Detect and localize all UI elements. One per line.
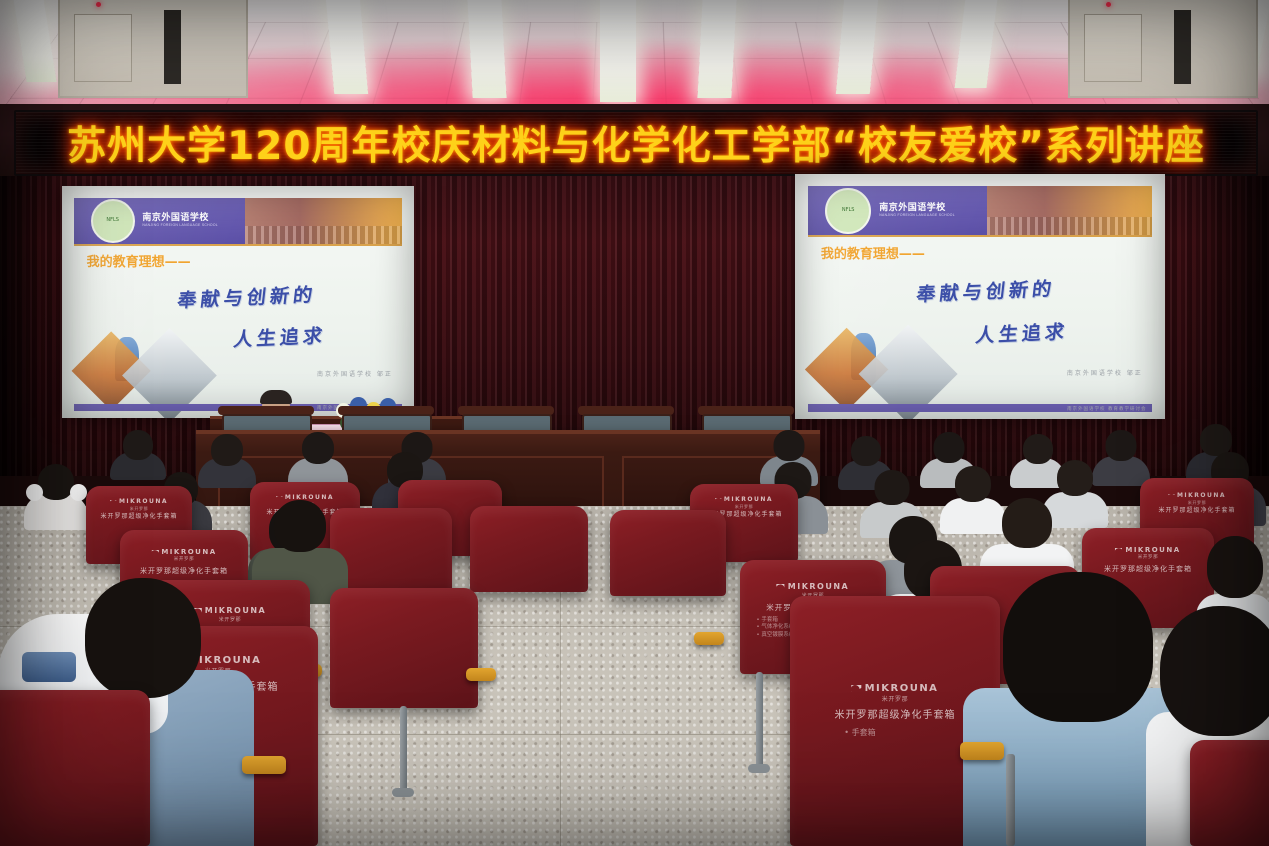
- seat-brand-block: MIKROUNA 米开罗那 米开罗那超级净化手套箱: [124, 548, 244, 576]
- speaker-hair: [260, 390, 292, 404]
- seat-foot: [392, 788, 414, 797]
- slide-subtitle: 我的教育理想——: [821, 243, 925, 262]
- school-name-block: 南京外国语学校 NANJING FOREIGN LANGUAGE SCHOOL: [879, 204, 955, 218]
- audience-member: [24, 462, 88, 528]
- audience-member: [288, 430, 348, 486]
- ceiling-light: [467, 0, 506, 98]
- slide-header-band: NFLS 南京外国语学校 NANJING FOREIGN LANGUAGE SC…: [808, 186, 1152, 237]
- mikrouna-logo-icon: [852, 685, 862, 692]
- person-head: [1160, 606, 1269, 736]
- seat-brand-cn: 米开罗那超级净化手套箱: [89, 513, 189, 521]
- slide-title-line1: 奉献与创新的: [176, 280, 318, 313]
- seat-brand-sub: 米开罗那: [1143, 500, 1250, 505]
- ac-vent-icon: [58, 0, 248, 98]
- seat-brand-block: MIKROUNA 米开罗那 米开罗那超级净化手套箱: [89, 498, 189, 522]
- ceiling: [0, 0, 1269, 112]
- presentation-slide: NFLS 南京外国语学校 NANJING FOREIGN LANGUAGE SC…: [795, 174, 1165, 419]
- slide-logo-block: NFLS 南京外国语学校 NANJING FOREIGN LANGUAGE SC…: [808, 186, 987, 235]
- auditorium-seat[interactable]: [470, 506, 588, 592]
- school-logo-icon: NFLS: [825, 188, 871, 234]
- person-head: [85, 578, 201, 698]
- person-head: [123, 430, 153, 460]
- seat-brand-name: MIKROUNA: [796, 682, 993, 696]
- auditorium-seat[interactable]: [0, 690, 150, 846]
- led-banner-text: 苏州大学120周年校庆材料与化学化工学部“校友爱校”系列讲座: [16, 115, 1256, 171]
- seat-armrest[interactable]: [466, 668, 496, 681]
- seat-brand-sub: 米开罗那: [124, 557, 244, 563]
- slide-campus-photo: [987, 186, 1152, 235]
- person-head: [1207, 536, 1263, 598]
- seat-leg: [756, 672, 763, 768]
- seat-brand-sub: 米开罗那: [1086, 555, 1210, 561]
- seat-brand-block: MIKROUNA 米开罗那 米开罗那超级净化手套箱: [1143, 492, 1250, 516]
- auditorium-photo: 苏州大学120周年校庆材料与化学化工学部“校友爱校”系列讲座 NFLS 南京外国…: [0, 0, 1269, 846]
- person-head: [211, 434, 243, 466]
- slide-header-band: NFLS 南京外国语学校 NANJING FOREIGN LANGUAGE SC…: [74, 198, 401, 246]
- seat-armrest[interactable]: [960, 742, 1004, 760]
- auditorium-seat[interactable]: [330, 508, 452, 598]
- slide-subtitle: 我的教育理想——: [87, 251, 191, 270]
- slide-campus-photo: [245, 198, 402, 244]
- seat-brand-cn: 米开罗那超级净化手套箱: [1143, 507, 1250, 515]
- school-name-block: 南京外国语学校 NANJING FOREIGN LANGUAGE SCHOOL: [142, 214, 218, 228]
- hair-tie: [26, 484, 43, 501]
- hoodie-graphic: [22, 652, 76, 682]
- person-head: [1057, 460, 1093, 496]
- seat-brand-block: MIKROUNA 米开罗那 米开罗那超级净化手套箱: [1086, 546, 1210, 574]
- floor-seam: [560, 566, 561, 846]
- slide-credit: 南京外国语学校 邹正: [1067, 368, 1143, 377]
- seat-leg: [400, 706, 407, 792]
- person-head: [274, 500, 326, 552]
- projection-screen-left: NFLS 南京外国语学校 NANJING FOREIGN LANGUAGE SC…: [62, 186, 414, 418]
- school-logo-text: NFLS: [842, 208, 855, 213]
- school-logo-icon: NFLS: [91, 199, 135, 243]
- person-head: [934, 432, 965, 463]
- mikrouna-logo-icon: [715, 498, 721, 502]
- slide-credit: 南京外国语学校 邹正: [317, 369, 393, 378]
- auditorium-seat[interactable]: [330, 588, 478, 708]
- seat-brand-sub: 米开罗那: [693, 504, 795, 509]
- person-head: [875, 470, 910, 505]
- upper-wall: 苏州大学120周年校庆材料与化学化工学部“校友爱校”系列讲座: [0, 104, 1269, 180]
- seat-leg: [1006, 754, 1015, 846]
- auditorium-seat[interactable]: [610, 510, 726, 596]
- mikrouna-logo-icon: [110, 500, 116, 504]
- slide-footer: 南京外国语学校 教育教学研讨会: [1067, 406, 1146, 412]
- person-head: [851, 436, 881, 466]
- person-head: [774, 430, 805, 461]
- led-banner-panel: 苏州大学120周年校庆材料与化学化工学部“校友爱校”系列讲座: [14, 110, 1258, 176]
- ceiling-light: [326, 0, 368, 94]
- ceiling-light: [600, 0, 636, 102]
- slide-logo-block: NFLS 南京外国语学校 NANJING FOREIGN LANGUAGE SC…: [74, 198, 244, 244]
- seat-brand-name: MIKROUNA: [693, 496, 795, 504]
- person-head: [1002, 498, 1052, 548]
- seat-armrest[interactable]: [242, 756, 286, 774]
- seat-brand-name: MIKROUNA: [1143, 492, 1250, 500]
- seat-armrest[interactable]: [694, 632, 724, 645]
- slide-title-line2: 人生追求: [974, 317, 1070, 348]
- slide-title-line2: 人生追求: [233, 321, 329, 352]
- person-head: [1003, 572, 1153, 722]
- person-head: [302, 432, 334, 464]
- school-name-en: NANJING FOREIGN LANGUAGE SCHOOL: [879, 214, 955, 218]
- seat-brand-sub: 米开罗那: [89, 506, 189, 511]
- slide-title-line1: 奉献与创新的: [915, 274, 1057, 307]
- seat-foot: [748, 764, 770, 773]
- mikrouna-logo-icon: [1168, 494, 1174, 498]
- seat-brand-cn: 米开罗那超级净化手套箱: [124, 567, 244, 576]
- ac-vent-icon: [1068, 0, 1258, 98]
- presentation-slide: NFLS 南京外国语学校 NANJING FOREIGN LANGUAGE SC…: [62, 186, 414, 418]
- mikrouna-logo-icon: [777, 584, 785, 590]
- person-head: [1106, 430, 1137, 461]
- school-logo-text: NFLS: [106, 218, 119, 223]
- mikrouna-logo-icon: [1115, 548, 1122, 553]
- auditorium-seat[interactable]: [1190, 740, 1269, 846]
- seat-brand-name: MIKROUNA: [744, 582, 881, 593]
- mikrouna-logo-icon: [151, 550, 158, 555]
- person-head: [38, 464, 74, 500]
- hair-tie: [70, 484, 87, 501]
- ceiling-light: [13, 0, 56, 82]
- projection-screen-right: NFLS 南京外国语学校 NANJING FOREIGN LANGUAGE SC…: [795, 174, 1165, 419]
- seat-brand-name: MIKROUNA: [89, 498, 189, 506]
- person-head: [955, 466, 991, 502]
- ceiling-light: [697, 0, 736, 98]
- school-name-en: NANJING FOREIGN LANGUAGE SCHOOL: [142, 224, 218, 228]
